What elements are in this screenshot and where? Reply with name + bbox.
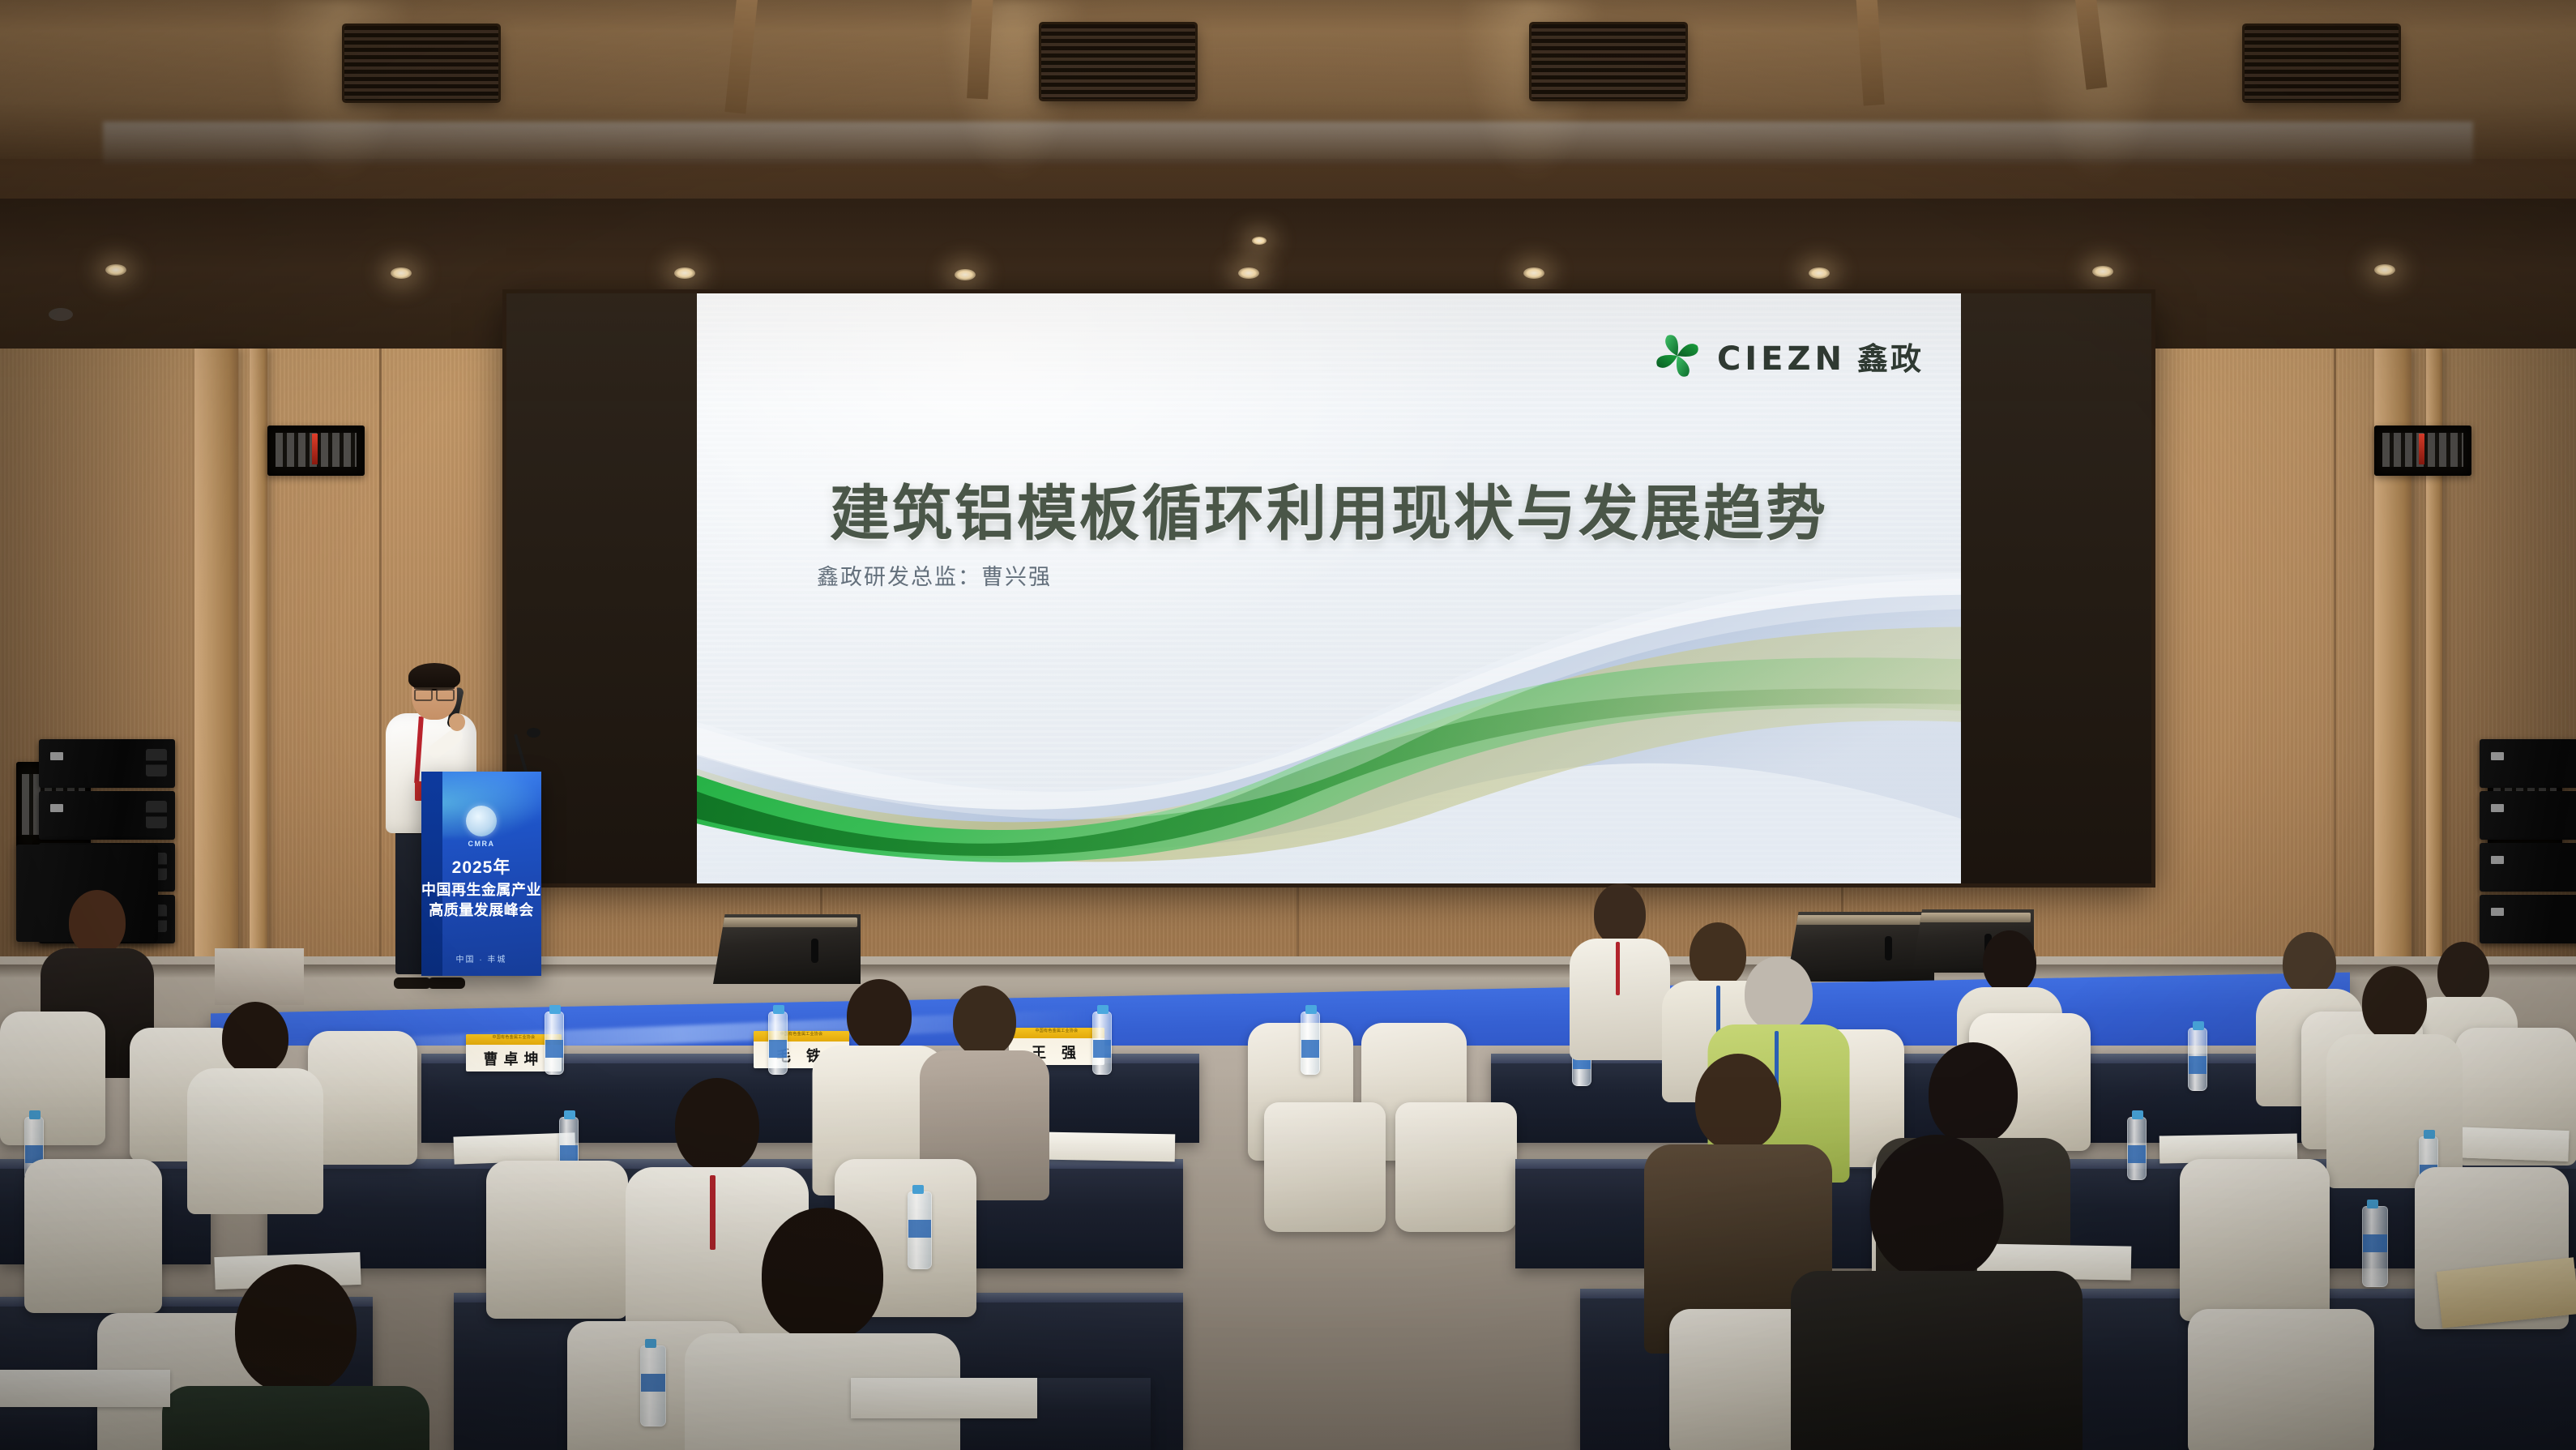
downlight [1809, 267, 1830, 279]
presenter-shoe [428, 977, 465, 989]
cmra-logo-text: CMRA [468, 840, 495, 848]
water-bottle [1301, 1012, 1320, 1075]
ceiling-cove-strip [103, 122, 2473, 164]
person-head [2283, 932, 2336, 995]
podium-line2: 中国再生金属产业 [421, 880, 541, 901]
brand-badge-icon [2491, 908, 2504, 916]
speaker-module [2480, 739, 2576, 788]
document-paper [851, 1378, 1037, 1418]
ceiling-vent-grille [1532, 24, 1685, 99]
presentation-slide: CIEZN 鑫政 建筑铝模板循环利用现状与发展趋势 鑫政研发总监：曹兴强 [697, 293, 1961, 883]
podium-microphone-icon [527, 728, 540, 738]
water-bottle [768, 1012, 788, 1075]
ceiling-vent-grille [2245, 26, 2399, 101]
podium-year: 2025年 [421, 856, 541, 880]
person-head [235, 1264, 357, 1394]
downlight [1238, 267, 1259, 279]
person-head [2362, 966, 2427, 1041]
lanyard [710, 1175, 716, 1250]
slide-wave-graphic [697, 553, 1961, 883]
water-bottle [640, 1345, 666, 1426]
presenter-shoe [394, 977, 431, 989]
person-head [1695, 1054, 1781, 1151]
person-head [675, 1078, 759, 1174]
person-torso [187, 1068, 323, 1214]
ciezn-pinwheel-icon [1652, 331, 1702, 381]
stage-monitor-wedge [713, 914, 861, 984]
brand-badge-icon [50, 804, 63, 812]
water-bottle [2127, 1117, 2147, 1180]
audience-person [194, 1002, 316, 1196]
water-bottle [2362, 1206, 2388, 1287]
downlight [1252, 237, 1267, 245]
cmra-logo-icon [466, 806, 497, 836]
person-head [69, 890, 126, 955]
logo-wordmark-en: CIEZN [1717, 340, 1846, 378]
person-head [1594, 883, 1646, 945]
downlight [105, 264, 126, 276]
downlight [674, 267, 695, 279]
led-screen: CIEZN 鑫政 建筑铝模板循环利用现状与发展趋势 鑫政研发总监：曹兴强 [506, 293, 2151, 883]
person-torso [1570, 939, 1670, 1060]
ceiling-speaker-icon [49, 308, 73, 321]
brand-badge-icon [2491, 752, 2504, 760]
glasses-icon [414, 687, 455, 696]
brand-badge-icon [50, 752, 63, 760]
water-bottle [2188, 1028, 2207, 1091]
slide-logo: CIEZN 鑫政 [1652, 331, 1924, 381]
ceiling-vent-grille [344, 26, 498, 101]
water-bottle [545, 1012, 564, 1075]
person-head [222, 1002, 288, 1075]
downlight [2092, 266, 2113, 277]
person-head [1983, 930, 2036, 994]
wall-seam [2334, 349, 2336, 997]
audience-person [924, 986, 1045, 1188]
presenter-hair [408, 663, 460, 691]
logo-wordmark-cn: 鑫政 [1857, 334, 1924, 379]
chair [2188, 1309, 2374, 1450]
chair [1395, 1102, 1517, 1232]
person-head [1745, 956, 1813, 1031]
person-torso [1791, 1271, 2083, 1450]
lectern-podium: CMRA 2025年 中国再生金属产业 高质量发展峰会 中国 · 丰城 [421, 772, 541, 976]
brand-badge-icon [2491, 856, 2504, 864]
downlight [391, 267, 412, 279]
audience-person-foreground [194, 1264, 397, 1450]
wall-niche [267, 426, 365, 476]
brand-badge-icon [2491, 804, 2504, 812]
document-paper [453, 1132, 575, 1164]
wall-pilaster [250, 349, 267, 997]
lanyard [1616, 942, 1620, 995]
speaker-module [2480, 895, 2576, 943]
chair [486, 1161, 628, 1319]
person-torso [2326, 1034, 2463, 1188]
document-paper [0, 1370, 170, 1407]
ceiling-vent-grille [1041, 24, 1195, 99]
chair [2180, 1159, 2330, 1321]
conference-hall-scene: CIEZN 鑫政 建筑铝模板循环利用现状与发展趋势 鑫政研发总监：曹兴强 [0, 0, 2576, 1450]
niche-accent [312, 434, 318, 464]
slide-logo-text: CIEZN 鑫政 [1717, 334, 1924, 379]
person-torso [162, 1386, 429, 1450]
person-head [762, 1208, 883, 1341]
audience-person [1575, 883, 1664, 1054]
podium-banner-text: 2025年 中国再生金属产业 高质量发展峰会 [421, 856, 541, 922]
led-panel-unlit-right [1961, 293, 2151, 883]
niche-accent [2419, 434, 2424, 464]
slide-title: 建筑铝模板循环利用现状与发展趋势 [697, 465, 1961, 552]
downlight [2374, 264, 2395, 276]
podium-line3: 高质量发展峰会 [421, 900, 541, 922]
wall-pilaster [194, 349, 238, 997]
speaker-module [39, 791, 175, 840]
line-array-speaker-right [2480, 739, 2576, 947]
document-paper [1045, 1132, 1176, 1162]
podium-footer: 中国 · 丰城 [421, 952, 541, 965]
chair [24, 1159, 162, 1313]
presenter-hand [449, 713, 465, 731]
wall-niche [2374, 426, 2471, 476]
downlight [955, 269, 976, 280]
person-head [847, 979, 912, 1052]
speaker-module [2480, 791, 2576, 840]
chair [308, 1031, 417, 1165]
audience-person-foreground [1831, 1135, 2042, 1450]
water-bottle [1092, 1012, 1112, 1075]
person-head [1870, 1135, 2004, 1281]
slide-subtitle: 鑫政研发总监：曹兴强 [817, 559, 1052, 591]
person-head [953, 986, 1016, 1057]
chair [1264, 1102, 1386, 1232]
chair [0, 1012, 105, 1145]
person-head [1929, 1042, 2018, 1144]
downlight [1523, 267, 1544, 279]
speaker-module [2480, 843, 2576, 892]
stage-step [215, 948, 304, 1005]
speaker-module [39, 739, 175, 788]
